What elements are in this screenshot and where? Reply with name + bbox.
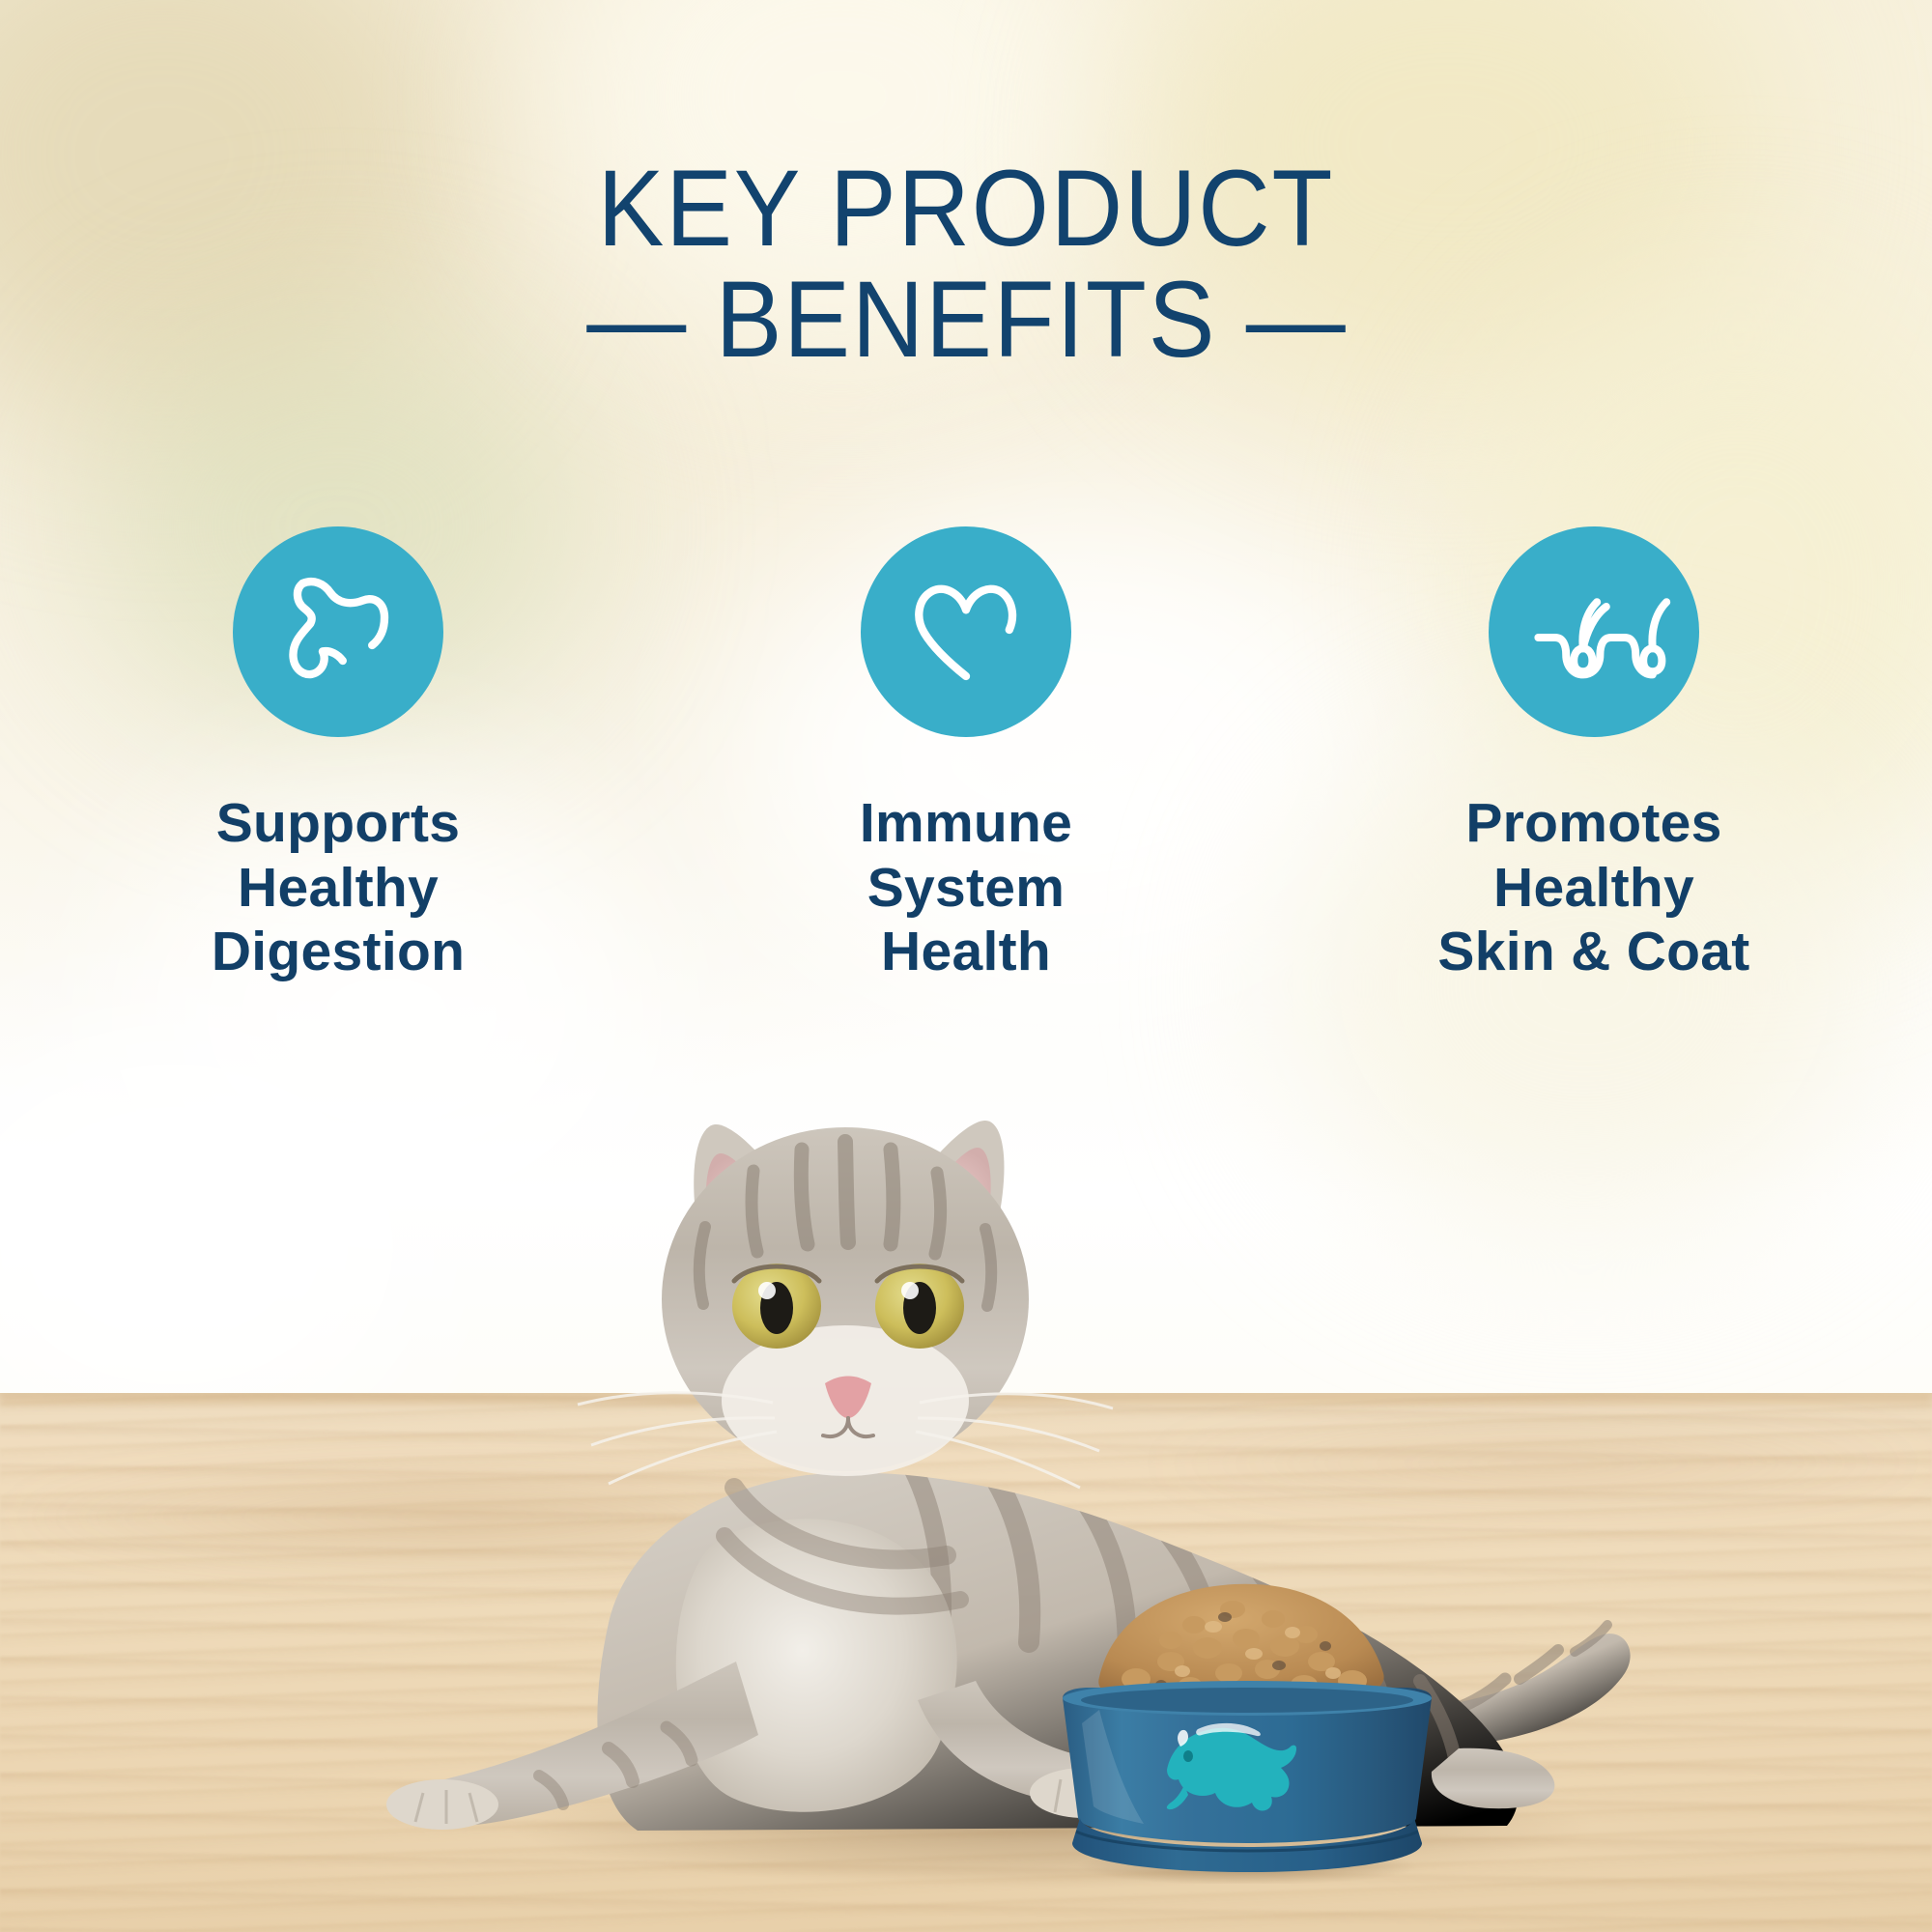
benefit-label: Immune System Health <box>860 791 1072 984</box>
page-title: KEY PRODUCT — BENEFITS — <box>77 153 1855 376</box>
page-title-line-1: KEY PRODUCT <box>598 148 1335 269</box>
page-title-line-2: BENEFITS <box>716 259 1217 380</box>
benefit-icon-badge <box>1489 526 1699 737</box>
benefit-icon-badge <box>861 526 1071 737</box>
title-dash-left: — <box>586 259 686 380</box>
cat-paw-left <box>386 1779 498 1830</box>
product-benefits-banner: KEY PRODUCT — BENEFITS — Supports Health… <box>0 0 1932 1932</box>
hair-follicle-icon <box>1517 553 1671 712</box>
bowl-rim-inner <box>1081 1688 1413 1713</box>
heart-plus-icon <box>889 553 1043 712</box>
cat-eye-right <box>875 1264 964 1349</box>
benefit-label: Promotes Healthy Skin & Coat <box>1437 791 1749 984</box>
title-dash-right: — <box>1246 259 1346 380</box>
benefits-row: Supports Healthy Digestion Immune System… <box>116 526 1816 984</box>
benefit-item-immune: Immune System Health <box>744 526 1188 984</box>
stomach-plus-icon <box>261 553 415 712</box>
cat-eye-left <box>732 1264 821 1349</box>
benefit-icon-badge <box>233 526 443 737</box>
food-bowl <box>1043 1565 1449 1884</box>
benefit-label: Supports Healthy Digestion <box>212 791 465 984</box>
benefit-item-digestion: Supports Healthy Digestion <box>116 526 560 984</box>
benefit-item-skin-coat: Promotes Healthy Skin & Coat <box>1372 526 1816 984</box>
